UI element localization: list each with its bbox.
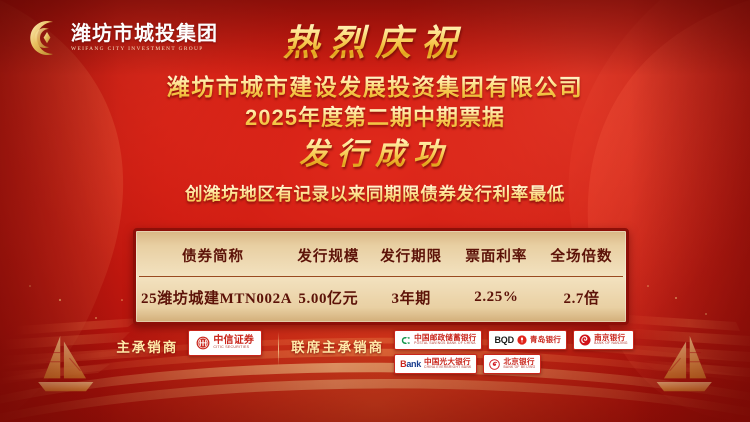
company-logo-name-cn: 潍坊市城投集团 [71,24,218,44]
joint-underwriter-logos: 中国邮政储蓄银行 POSTAL SAVINGS BANK OF CHINA BQ… [394,330,634,374]
citic-seal-icon [196,336,210,350]
column-header-bond-name: 债券简称 [139,234,287,277]
joint-logo-row-1: 中国邮政储蓄银行 POSTAL SAVINGS BANK OF CHINA BQ… [394,330,634,350]
company-logo: 潍坊市城投集团 WEIFANG CITY INVESTMENT GROUP [22,18,218,58]
headline-instrument: 2025年度第二期中期票据 [0,103,750,133]
company-logo-name-en: WEIFANG CITY INVESTMENT GROUP [71,47,218,52]
postal-savings-name-en: POSTAL SAVINGS BANK OF CHINA [414,342,476,345]
headline-success: 发行成功 [299,135,451,175]
bond-table-body: 25潍坊城建MTN002A 5.00亿元 3年期 2.25% 2.7倍 [139,277,623,320]
qingdao-bank-icon [517,335,527,345]
nanjing-name-en: BANK OF NANJING [594,342,628,345]
bond-table: 债券简称 发行规模 发行期限 票面利率 全场倍数 25潍坊城建MTN002A 5… [139,234,623,319]
column-header-issue-size: 发行规模 [287,234,370,277]
column-header-coupon-rate: 票面利率 [453,234,541,277]
bond-detail-panel: 债券简称 发行规模 发行期限 票面利率 全场倍数 25潍坊城建MTN002A 5… [133,228,629,325]
logo-postal-savings-bank: 中国邮政储蓄银行 POSTAL SAVINGS BANK OF CHINA [394,330,482,350]
logo-citic-securities: 中信证券 CITIC SECURITIES [188,330,262,356]
qingdao-abbr: BQD [494,335,513,345]
table-header-row: 债券简称 发行规模 发行期限 票面利率 全场倍数 [139,234,623,277]
beijing-bank-icon [489,359,500,370]
everbright-name-en: CHINA EVERBRIGHT BANK [424,366,472,369]
crescent-moon-star-icon [22,18,62,58]
cell-issue-term: 3年期 [370,277,453,320]
company-logo-text: 潍坊市城投集团 WEIFANG CITY INVESTMENT GROUP [71,24,218,52]
beijing-name-en: BANK OF BEIJING [503,366,535,369]
citic-name-en: CITIC SECURITIES [213,346,254,350]
nanjing-bank-icon [579,334,591,346]
column-header-issue-term: 发行期限 [370,234,453,277]
logo-bank-of-qingdao: BQD 青岛银行 [488,330,567,350]
joint-logo-row-2: Bank 中国光大银行 CHINA EVERBRIGHT BANK [394,354,634,374]
celebration-banner: 潍坊市城投集团 WEIFANG CITY INVESTMENT GROUP 热烈… [0,0,750,422]
logo-bank-of-nanjing: 南京银行 BANK OF NANJING [573,330,634,350]
postal-savings-icon [400,335,411,346]
logo-china-everbright-bank: Bank 中国光大银行 CHINA EVERBRIGHT BANK [394,354,477,374]
underwriter-section: 主承销商 中信证券 CITIC SECURITIES [0,322,750,382]
bond-table-head: 债券简称 发行规模 发行期限 票面利率 全场倍数 [139,234,623,277]
headline-record-note: 创潍坊地区有记录以来同期限债券发行利率最低 [0,181,750,207]
column-header-subscription-multiple: 全场倍数 [540,234,623,277]
cell-bond-name: 25潍坊城建MTN002A [139,277,287,320]
cell-issue-size: 5.00亿元 [287,277,370,320]
cell-subscription-multiple: 2.7倍 [540,277,623,320]
logo-bank-of-beijing: 北京银行 BANK OF BEIJING [483,354,541,374]
joint-underwriter-label: 联席主承销商 [291,330,384,356]
headline-celebrate: 热烈庆祝 [283,20,467,66]
lead-underwriter-label: 主承销商 [116,330,178,356]
qingdao-name-cn: 青岛银行 [530,336,561,344]
everbright-icon: Bank [400,359,421,369]
section-divider [278,332,279,366]
table-row: 25潍坊城建MTN002A 5.00亿元 3年期 2.25% 2.7倍 [139,277,623,320]
headline-company-name: 潍坊市城市建设发展投资集团有限公司 [0,72,750,103]
cell-coupon-rate: 2.25% [453,277,541,320]
